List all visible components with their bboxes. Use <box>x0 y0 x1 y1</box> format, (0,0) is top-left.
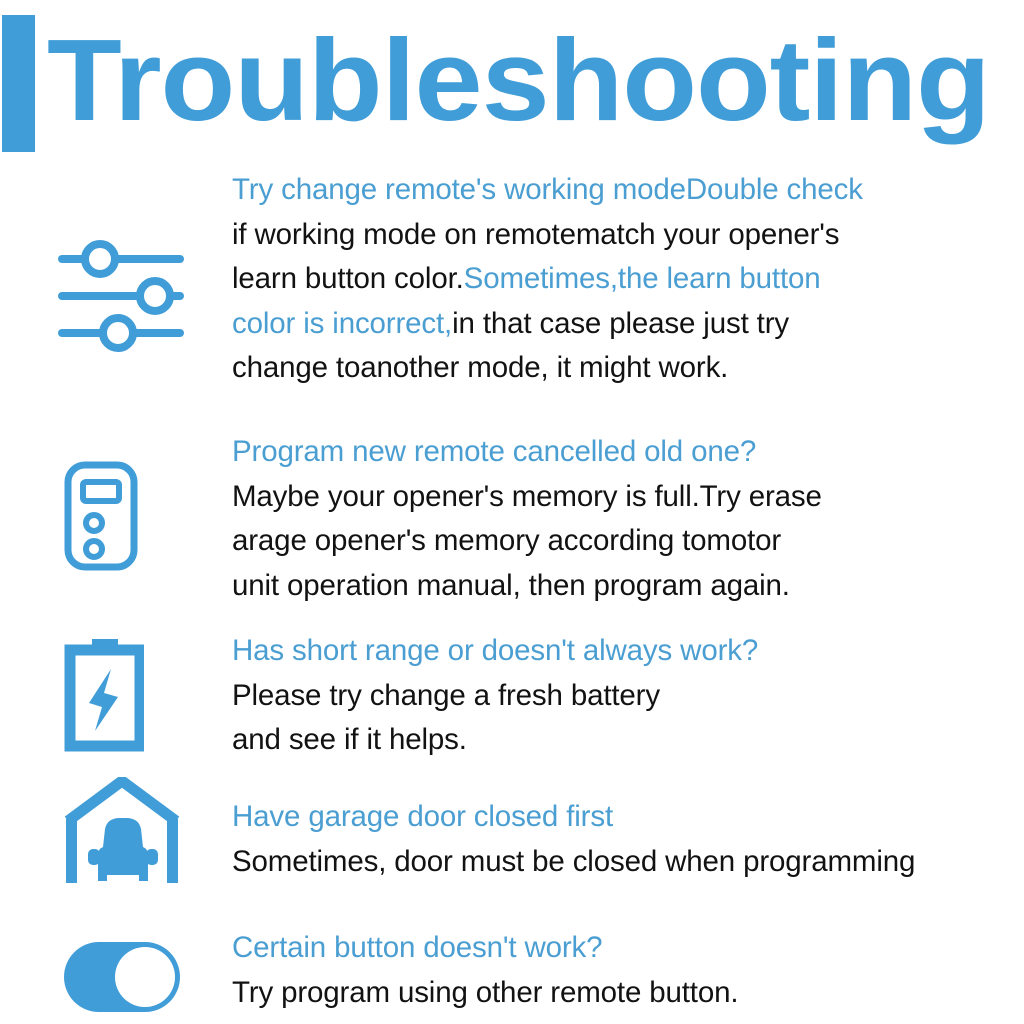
text-span: if working mode on remotematch your open… <box>232 218 839 251</box>
text-span: arage opener's memory according tomotor <box>232 524 781 557</box>
text-span: Certain button doesn't work? <box>232 931 602 964</box>
text-span: change toanother mode, it might work. <box>232 351 728 384</box>
text-span: Maybe your opener's memory is full.Try e… <box>232 480 822 513</box>
text-span: learn button color. <box>232 262 464 295</box>
text-span: and see if it helps. <box>232 723 467 756</box>
text-span: Has short range or doesn't always work? <box>232 634 758 667</box>
text-line: Maybe your opener's memory is full.Try e… <box>232 475 1024 520</box>
section-program-new-remote-text: Program new remote cancelled old one? Ma… <box>232 430 1024 608</box>
text-line: unit operation manual, then program agai… <box>232 564 1024 609</box>
text-line: arage opener's memory according tomotor <box>232 519 1024 564</box>
text-line: Have garage door closed first <box>232 795 1024 840</box>
text-line: Has short range or doesn't always work? <box>232 629 1024 674</box>
text-span: Program new remote cancelled old one? <box>232 435 756 468</box>
text-line: Program new remote cancelled old one? <box>232 430 1024 475</box>
text-line: Try program using other remote button. <box>232 971 1024 1016</box>
section-garage-door-text: Have garage door closed first Sometimes,… <box>232 795 1024 884</box>
section-short-range-text: Has short range or doesn't always work? … <box>232 629 1024 763</box>
text-span: Sometimes,the learn button <box>464 262 821 295</box>
text-span: Try program using other remote button. <box>232 976 738 1009</box>
text-line: Please try change a fresh battery <box>232 674 1024 719</box>
section-working-mode-text: Try change remote's working modeDouble c… <box>232 168 1024 391</box>
text-line: if working mode on remotematch your open… <box>232 213 1024 258</box>
text-span: Please try change a fresh battery <box>232 679 660 712</box>
battery-icon <box>64 637 144 753</box>
text-line: Sometimes, door must be closed when prog… <box>232 840 1024 885</box>
sliders-icon <box>58 240 184 352</box>
text-line: learn button color.Sometimes,the learn b… <box>232 257 1024 302</box>
text-span: unit operation manual, then program agai… <box>232 569 790 602</box>
text-line: Certain button doesn't work? <box>232 926 1024 971</box>
troubleshooting-page: Troubleshooting Try change remote's work… <box>0 0 1024 1024</box>
page-header: Troubleshooting <box>0 0 1024 160</box>
text-span: color is incorrect, <box>232 307 452 340</box>
page-title: Troubleshooting <box>47 14 1024 146</box>
text-span: in that case please just try <box>452 307 789 340</box>
title-accent-bar <box>2 15 35 152</box>
section-certain-button-text: Certain button doesn't work? Try program… <box>232 926 1024 1015</box>
garage-car-icon <box>62 777 182 889</box>
text-line: and see if it helps. <box>232 718 1024 763</box>
text-span: Try change remote's working modeDouble c… <box>232 173 863 206</box>
remote-control-icon <box>63 460 139 572</box>
text-span: Have garage door closed first <box>232 800 613 833</box>
text-line: color is incorrect,in that case please j… <box>232 302 1024 347</box>
text-span: Sometimes, door must be closed when prog… <box>232 845 915 878</box>
text-line: Try change remote's working modeDouble c… <box>232 168 1024 213</box>
toggle-switch-icon <box>62 940 182 1014</box>
text-line: change toanother mode, it might work. <box>232 346 1024 391</box>
